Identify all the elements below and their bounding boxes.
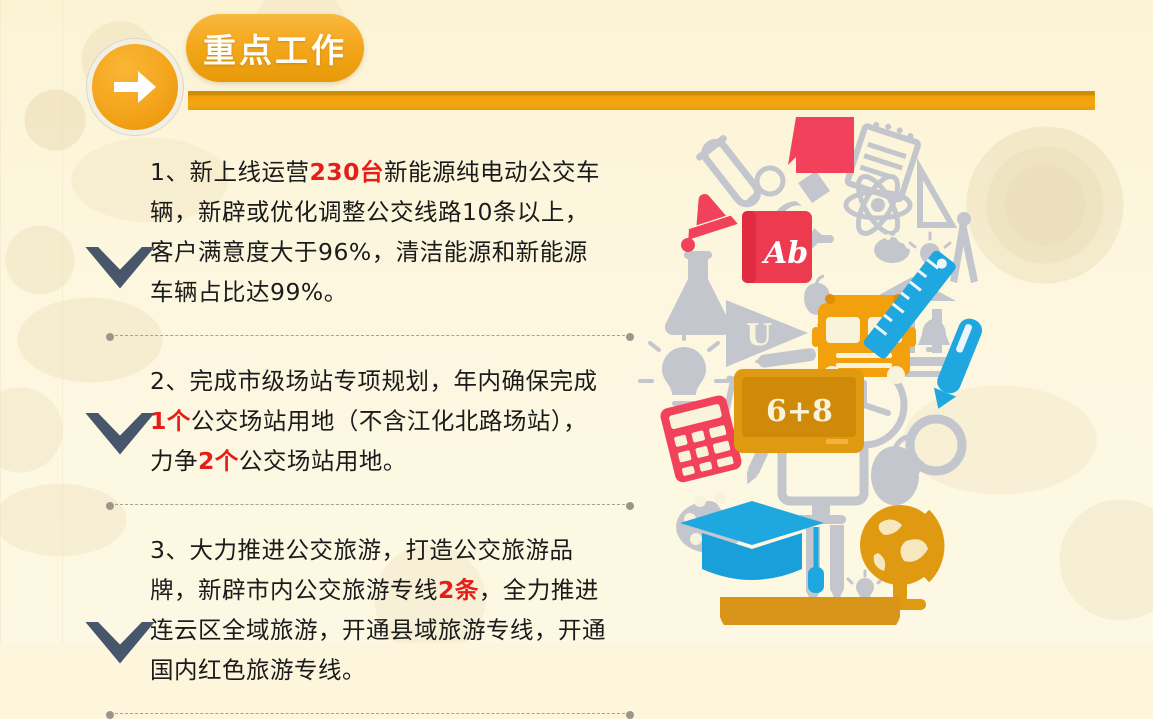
lightbulb-base bbox=[720, 597, 900, 625]
triangle-ruler-icon bbox=[920, 169, 952, 225]
lightbulb-education-collage: U bbox=[630, 105, 990, 625]
header-accent-bar bbox=[188, 91, 1095, 110]
item-divider bbox=[110, 335, 630, 337]
chevron-down-icon bbox=[85, 413, 155, 455]
flag-icon bbox=[788, 117, 854, 173]
compass-icon bbox=[950, 212, 978, 283]
highlighted-number: 2个 bbox=[198, 447, 239, 475]
chalkboard-icon: 6+8 bbox=[734, 369, 864, 453]
highlighted-number: 1个 bbox=[150, 407, 191, 435]
chevron-down-icon bbox=[85, 247, 155, 289]
paragraph-text: 1、新上线运营230台新能源纯电动公交车辆，新辟或优化调整公交线路10条以上，客… bbox=[150, 152, 610, 312]
svg-text:6+8: 6+8 bbox=[766, 394, 833, 429]
arrow-right-glyph bbox=[112, 68, 158, 106]
list-item: 1、新上线运营230台新能源纯电动公交车辆，新辟或优化调整公交线路10条以上，客… bbox=[0, 152, 640, 312]
item-divider bbox=[110, 504, 630, 506]
highlighted-number: 2条 bbox=[438, 576, 479, 604]
page-title: 重点工作 bbox=[203, 24, 347, 72]
book-icon: Ab bbox=[742, 211, 812, 283]
magnifier-icon bbox=[902, 419, 962, 487]
monitor-icon bbox=[782, 443, 864, 524]
content-list: 1、新上线运营230台新能源纯电动公交车辆，新辟或优化调整公交线路10条以上，客… bbox=[0, 128, 640, 715]
bell-icon bbox=[918, 319, 950, 352]
list-item: 3、大力推进公交旅游，打造公交旅游品牌，新辟市内公交旅游专线2条，全力推进连云区… bbox=[0, 530, 640, 690]
globe-icon bbox=[860, 505, 940, 610]
calculator-icon bbox=[659, 394, 743, 484]
svg-text:Ab: Ab bbox=[761, 236, 808, 271]
text-run: 公交场站用地。 bbox=[239, 447, 407, 475]
svg-text:U: U bbox=[746, 318, 772, 353]
flask-icon bbox=[665, 251, 731, 335]
palette-icon bbox=[874, 232, 910, 263]
paragraph-text: 3、大力推进公交旅游，打造公交旅游品牌，新辟市内公交旅游专线2条，全力推进连云区… bbox=[150, 530, 610, 690]
text-run: 1、新上线运营 bbox=[150, 158, 309, 186]
slide-header: 重点工作 bbox=[0, 0, 1153, 125]
section-title-pill: 重点工作 bbox=[186, 14, 364, 82]
lightbulb-svg: U bbox=[630, 105, 990, 625]
list-item: 2、完成市级场站专项规划，年内确保完成1个公交场站用地（不含江化北路场站），力争… bbox=[0, 361, 640, 481]
bell-icon bbox=[681, 190, 738, 252]
text-run: 2、完成市级场站专项规划，年内确保完成 bbox=[150, 367, 597, 395]
pen-icon bbox=[806, 525, 844, 605]
arrow-right-icon[interactable] bbox=[92, 44, 178, 130]
paragraph-text: 2、完成市级场站专项规划，年内确保完成1个公交场站用地（不含江化北路场站），力争… bbox=[150, 361, 610, 481]
highlighted-number: 230台 bbox=[309, 158, 384, 186]
item-divider bbox=[110, 713, 630, 715]
